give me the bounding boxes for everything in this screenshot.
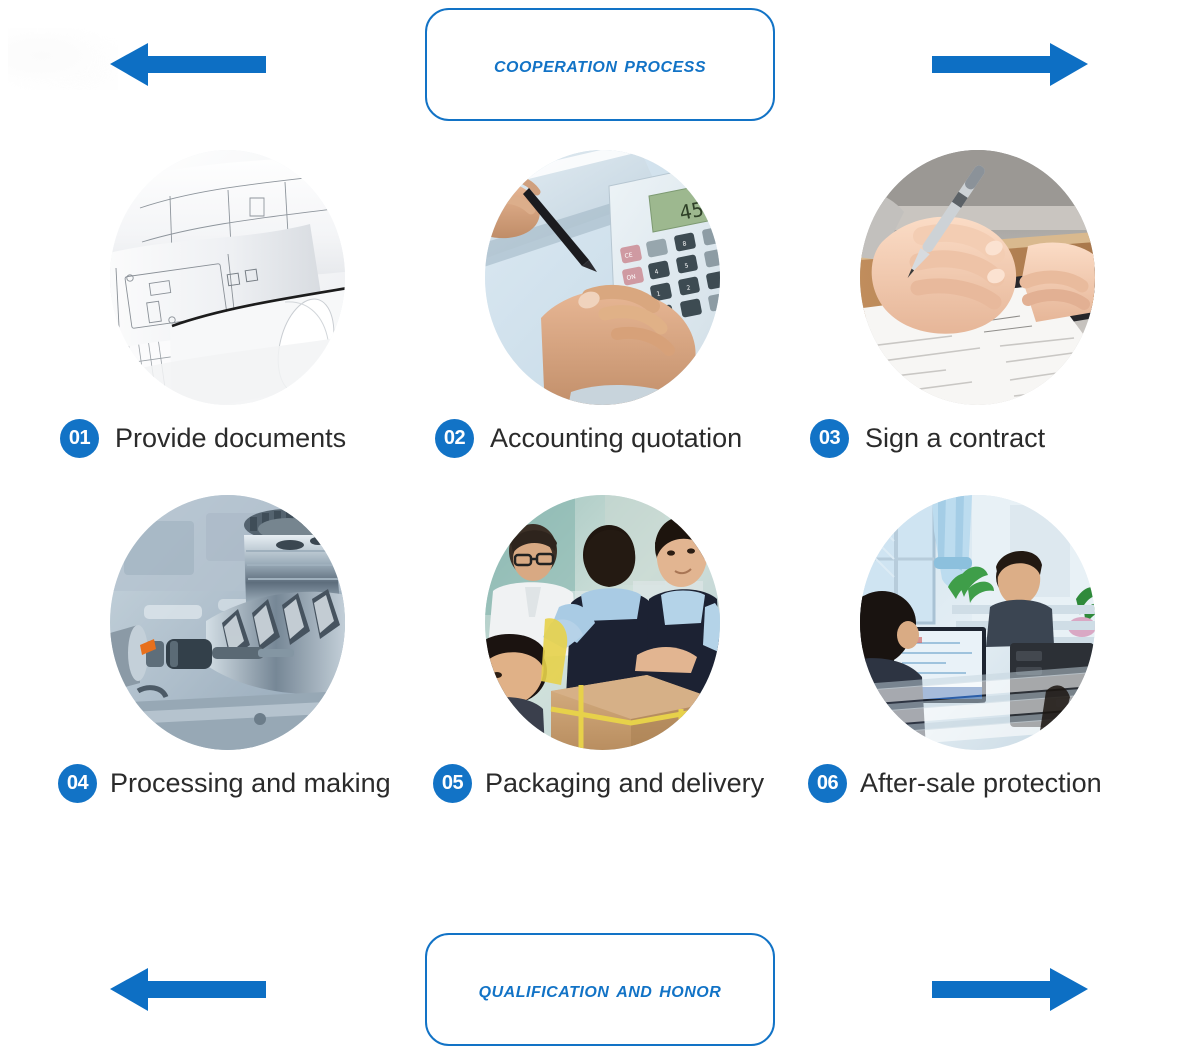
step-caption-04: 04 Processing and making	[58, 764, 391, 803]
cooperation-process-infographic: Cooperation process	[0, 0, 1200, 1061]
rolled-blueprints-photo: b1 60 W	[110, 150, 345, 405]
step-number-badge: 01	[60, 419, 99, 458]
top-banner-title: Cooperation process	[494, 51, 706, 78]
step-card-05[interactable]: 05 Packaging and delivery	[375, 495, 750, 803]
step-card-03[interactable]: 03 Sign a contract	[750, 150, 1125, 458]
cnc-machining-photo	[110, 495, 345, 750]
step-card-06[interactable]: 06 After-sale protection	[750, 495, 1125, 803]
step-caption-06: 06 After-sale protection	[808, 764, 1102, 803]
steps-row-2: 04 Processing and making	[0, 495, 1200, 840]
arrow-right-icon	[932, 960, 1088, 1020]
step-caption-02: 02 Accounting quotation	[435, 419, 742, 458]
step-number-badge: 06	[808, 764, 847, 803]
step-number-badge: 05	[433, 764, 472, 803]
step-label: Accounting quotation	[490, 423, 742, 454]
steps-row-1: b1 60 W	[0, 150, 1200, 495]
bottom-banner-box: Qualification and honor	[425, 933, 775, 1046]
step-label: Packaging and delivery	[485, 768, 764, 799]
step-caption-01: 01 Provide documents	[60, 419, 346, 458]
arrow-left-icon	[110, 960, 266, 1020]
step-card-04[interactable]: 04 Processing and making	[0, 495, 375, 803]
contract-signing-photo	[860, 150, 1095, 405]
arrow-right-icon	[932, 35, 1088, 95]
step-card-02[interactable]: 454	[375, 150, 750, 458]
step-label: Provide documents	[115, 423, 346, 454]
step-number-badge: 02	[435, 419, 474, 458]
step-label: Processing and making	[110, 768, 391, 799]
packaging-workers-photo	[485, 495, 720, 750]
office-support-photo	[860, 495, 1095, 750]
arrow-left-icon	[110, 35, 266, 95]
step-number-badge: 03	[810, 419, 849, 458]
step-label: Sign a contract	[865, 423, 1045, 454]
bottom-banner-row: Qualification and honor	[0, 925, 1200, 1055]
step-label: After-sale protection	[860, 768, 1102, 799]
step-card-01[interactable]: b1 60 W	[0, 150, 375, 458]
bottom-banner-title: Qualification and honor	[479, 976, 722, 1003]
step-number-badge: 04	[58, 764, 97, 803]
steps-grid: b1 60 W	[0, 150, 1200, 840]
step-caption-05: 05 Packaging and delivery	[433, 764, 764, 803]
top-banner-box: Cooperation process	[425, 8, 775, 121]
top-banner-row: Cooperation process	[0, 0, 1200, 130]
calculator-hands-photo: 454	[485, 150, 720, 405]
step-caption-03: 03 Sign a contract	[810, 419, 1045, 458]
